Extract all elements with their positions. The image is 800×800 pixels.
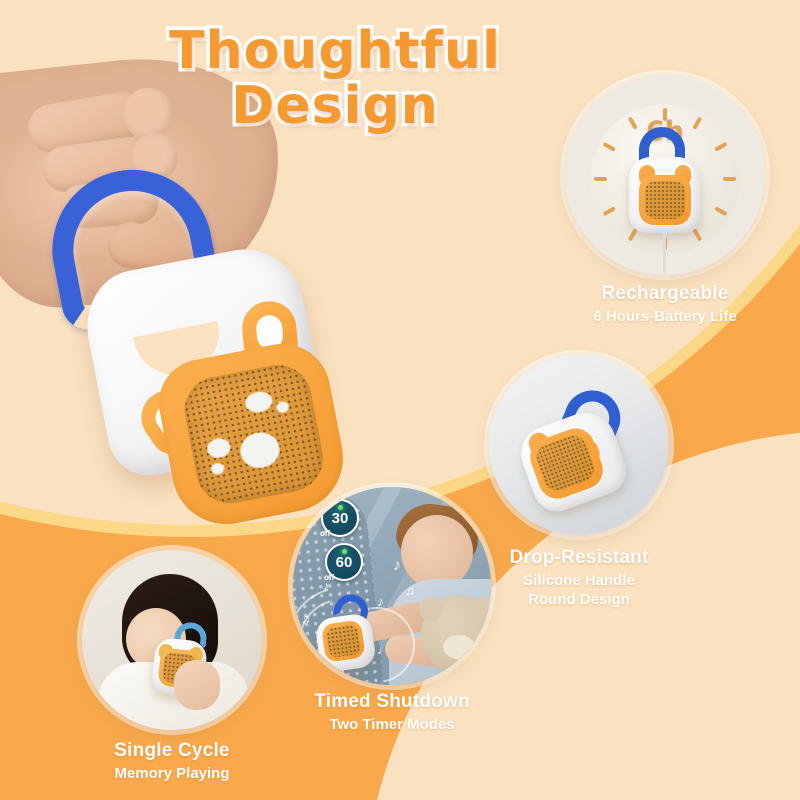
grille-snout — [238, 430, 282, 471]
grille-eye-left — [206, 437, 231, 459]
girl-hand — [174, 660, 220, 710]
grille-eye-left-dot — [211, 463, 225, 475]
clock-tick — [594, 177, 607, 181]
product-body — [77, 239, 330, 482]
feature-drop-resistant-title: Drop-Resistant — [489, 547, 669, 569]
baby-head — [401, 515, 473, 589]
music-note-icon: ♪ — [339, 665, 345, 679]
feature-timed-shutdown-image: ♪ ♫ ♪ ♫ ♪ ♪ ♩ 30 off 60 off — [293, 487, 491, 685]
charging-cable — [663, 231, 666, 273]
teddy-ear-left — [419, 597, 443, 621]
clock-tick — [723, 177, 736, 181]
feature-timed-shutdown-caption: Timed Shutdown Two Timer Modes — [293, 691, 491, 735]
feature-drop-resistant-image — [489, 355, 669, 535]
feature-drop-resistant-subtitle-1: Silicone Handle — [489, 572, 669, 591]
clock-tick — [714, 206, 727, 216]
led-indicator-icon — [342, 549, 347, 554]
feature-rechargeable-caption: Rechargeable 6 Hours-Battery Life — [565, 283, 765, 327]
feature-rechargeable-subtitle: 6 Hours-Battery Life — [565, 308, 765, 327]
teddy-bear — [421, 595, 491, 673]
teddy-snout — [443, 635, 475, 659]
mini-speaker-grille — [645, 181, 685, 219]
music-note-icon: ♩ — [377, 643, 389, 657]
feature-drop-resistant-caption: Drop-Resistant Silicone Handle Round Des… — [489, 547, 669, 610]
music-note-icon: ♫ — [301, 611, 311, 626]
main-product-device — [37, 156, 367, 494]
feature-single-cycle-image — [82, 550, 262, 730]
mini-device-charging — [623, 127, 709, 247]
timer-badge-60-state: off — [324, 573, 334, 582]
feature-single-cycle-subtitle: Memory Playing — [82, 765, 262, 784]
feature-rechargeable-image: 6h — [565, 75, 765, 275]
music-note-icon: ♪ — [377, 593, 384, 609]
teddy-ear-right — [471, 597, 491, 621]
clock-tick — [603, 206, 616, 216]
feature-timed-shutdown-subtitle: Two Timer Modes — [293, 716, 491, 735]
clock-tick — [663, 108, 667, 121]
infographic-stage: Thoughtful Design — [0, 0, 800, 800]
grille-eye-right-dot — [276, 401, 289, 413]
timer-badge-30-state: off — [320, 529, 330, 538]
grille-eye-right — [244, 390, 273, 414]
timer-badge-60-value: 60 — [336, 554, 353, 571]
feature-single-cycle-caption: Single Cycle Memory Playing — [82, 740, 262, 784]
led-indicator-icon — [338, 505, 343, 510]
feature-drop-resistant-subtitle-2: Round Design — [489, 591, 669, 610]
mini-device-lying — [500, 374, 660, 522]
feature-rechargeable-title: Rechargeable — [565, 283, 765, 305]
feature-single-cycle-title: Single Cycle — [82, 740, 262, 762]
music-note-icon: ♪ — [393, 557, 401, 575]
music-note-icon: ♫ — [405, 583, 415, 598]
timer-badge-30-value: 30 — [332, 510, 349, 527]
feature-timed-shutdown-title: Timed Shutdown — [293, 691, 491, 713]
